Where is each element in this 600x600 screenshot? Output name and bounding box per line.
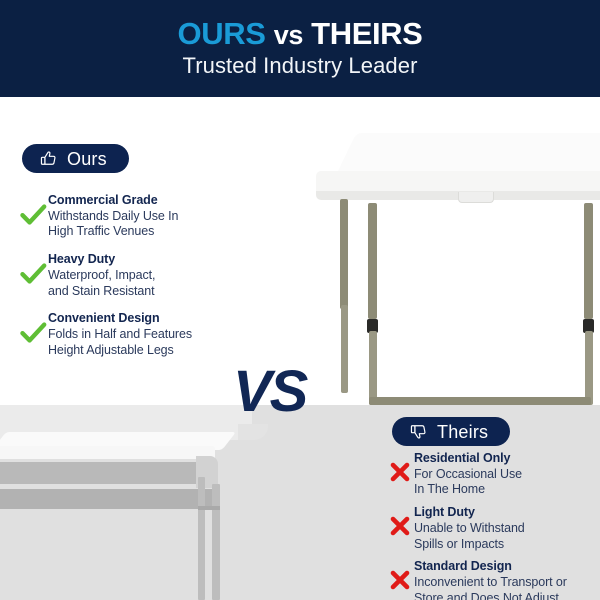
our-product-image — [316, 133, 600, 408]
leg-crossbar — [369, 397, 591, 405]
thumbs-down-icon — [409, 422, 428, 441]
comparison-infographic: OURS vs THEIRS Trusted Industry Leader V… — [0, 0, 600, 600]
feature-desc-line2: In The Home — [414, 482, 522, 498]
page-title: OURS vs THEIRS — [178, 18, 423, 51]
list-item-text: Standard Design Inconvenient to Transpor… — [414, 558, 567, 600]
cross-icon — [386, 504, 414, 548]
title-vs-word: vs — [274, 20, 303, 50]
leg-front-right-upper — [584, 203, 593, 319]
list-item-text: Convenient Design Folds in Half and Feat… — [48, 310, 192, 358]
theirs-feature-list: Residential Only For Occasional Use In T… — [386, 450, 596, 600]
leg-front-left-lower — [369, 331, 377, 405]
feature-desc-line1: Unable to Withstand — [414, 521, 525, 537]
their-tabletop-front-face — [0, 446, 215, 459]
tabletop-carry-handle — [458, 192, 494, 203]
leg-front-left-upper — [368, 203, 377, 319]
check-icon — [18, 310, 48, 356]
vs-divider-label: VS — [233, 363, 306, 421]
feature-desc-line1: Withstands Daily Use In — [48, 209, 178, 225]
leg-rear-left-lower — [341, 305, 348, 393]
feature-desc-line2: High Traffic Venues — [48, 224, 178, 240]
their-apron-lower — [0, 489, 215, 509]
title-ours-word: OURS — [178, 16, 266, 51]
list-item: Residential Only For Occasional Use In T… — [386, 450, 596, 498]
feature-desc-line1: Inconvenient to Transport or — [414, 575, 567, 591]
cross-icon — [386, 558, 414, 600]
check-icon — [18, 192, 48, 238]
feature-title: Light Duty — [414, 505, 525, 521]
ours-badge-label: Ours — [67, 150, 107, 168]
theirs-badge: Theirs — [392, 417, 510, 446]
feature-title: Commercial Grade — [48, 193, 178, 209]
feature-title: Standard Design — [414, 559, 567, 575]
list-item: Heavy Duty Waterproof, Impact, and Stain… — [18, 251, 258, 299]
header-band: OURS vs THEIRS Trusted Industry Leader — [0, 0, 600, 97]
their-leg-front-right — [212, 484, 220, 600]
title-theirs-word: THEIRS — [311, 16, 422, 51]
list-item-text: Light Duty Unable to Withstand Spills or… — [414, 504, 525, 552]
feature-desc-line2: Height Adjustable Legs — [48, 343, 192, 359]
check-icon — [18, 251, 48, 297]
their-apron-upper — [0, 462, 202, 484]
thumbs-up-icon — [39, 149, 58, 168]
feature-title: Residential Only — [414, 451, 522, 467]
their-leg-brace — [198, 506, 220, 510]
list-item: Commercial Grade Withstands Daily Use In… — [18, 192, 258, 240]
leg-rear-left-upper — [340, 199, 348, 309]
leg-front-right-lower — [585, 331, 593, 405]
list-item: Light Duty Unable to Withstand Spills or… — [386, 504, 596, 552]
cross-icon — [386, 450, 414, 494]
feature-desc-line2: Store and Does Not Adjust — [414, 591, 567, 600]
feature-desc-line2: and Stain Resistant — [48, 284, 155, 300]
feature-desc-line1: For Occasional Use — [414, 467, 522, 483]
feature-title: Convenient Design — [48, 311, 192, 327]
theirs-badge-label: Theirs — [437, 423, 488, 441]
feature-desc-line2: Spills or Impacts — [414, 537, 525, 553]
their-product-image — [0, 432, 260, 600]
their-leg-rear-right — [198, 477, 205, 600]
feature-desc-line1: Folds in Half and Features — [48, 327, 192, 343]
list-item-text: Commercial Grade Withstands Daily Use In… — [48, 192, 178, 240]
feature-title: Heavy Duty — [48, 252, 155, 268]
ours-badge: Ours — [22, 144, 129, 173]
list-item: Standard Design Inconvenient to Transpor… — [386, 558, 596, 600]
list-item: Convenient Design Folds in Half and Feat… — [18, 310, 258, 358]
ours-feature-list: Commercial Grade Withstands Daily Use In… — [18, 192, 258, 369]
list-item-text: Residential Only For Occasional Use In T… — [414, 450, 522, 498]
list-item-text: Heavy Duty Waterproof, Impact, and Stain… — [48, 251, 155, 299]
feature-desc-line1: Waterproof, Impact, — [48, 268, 155, 284]
page-subtitle: Trusted Industry Leader — [182, 53, 417, 79]
